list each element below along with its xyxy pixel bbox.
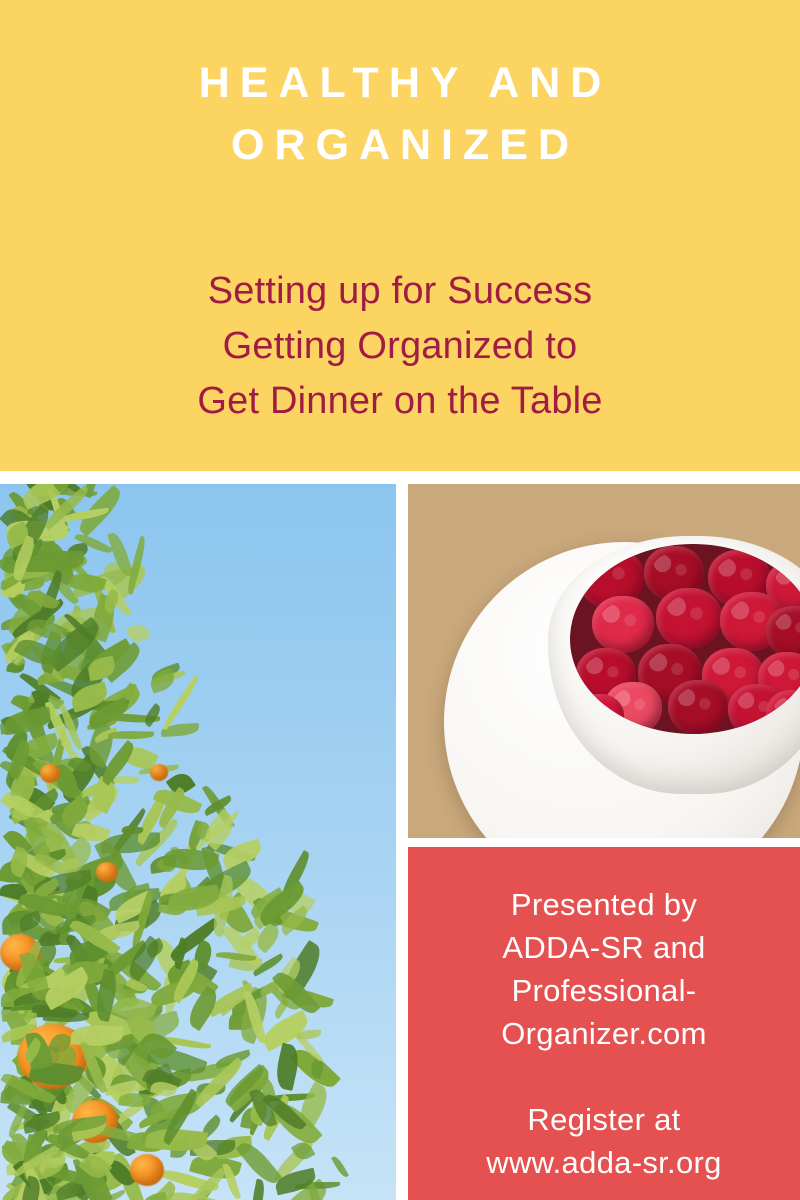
leaf [297, 1030, 322, 1039]
poster-canvas: HEALTHY AND ORGANIZED Setting up for Suc… [0, 0, 800, 1200]
footer-website-url: www.adda-sr.org [408, 1141, 800, 1184]
raspberry [656, 588, 722, 649]
subtitle-line-3: Get Dinner on the Table [0, 374, 800, 429]
header-band: HEALTHY AND ORGANIZED Setting up for Suc… [0, 0, 800, 471]
title-line-1: HEALTHY AND [0, 52, 800, 114]
leaf [126, 622, 151, 645]
leaf [108, 730, 154, 739]
title-line-2: ORGANIZED [0, 114, 800, 176]
raspberry [766, 606, 800, 658]
footer-line-spacer [408, 1055, 800, 1098]
raspberry [574, 694, 624, 734]
footer-line-1: Presented by [408, 883, 800, 926]
raspberries [570, 544, 800, 734]
leaf [112, 775, 138, 786]
subtitle-line-1: Setting up for Success [0, 264, 800, 319]
page-subtitle: Setting up for Success Getting Organized… [0, 264, 800, 429]
leaf [331, 1155, 349, 1179]
bowl [548, 536, 800, 794]
page-title: HEALTHY AND ORGANIZED [0, 52, 800, 176]
footer-line-4: Organizer.com [408, 1012, 800, 1055]
raspberry-bowl-photo [408, 484, 800, 838]
raspberry [668, 680, 728, 734]
subtitle-line-2: Getting Organized to [0, 319, 800, 374]
raspberry [766, 690, 800, 734]
raspberry [592, 596, 654, 653]
tree-foliage [0, 484, 370, 1200]
footer-line-2: ADDA-SR and [408, 926, 800, 969]
leaf [250, 1179, 266, 1200]
orange-fruit [130, 1154, 164, 1186]
footer-line-3: Professional- [408, 969, 800, 1012]
leaf [3, 707, 53, 736]
orange-fruit [150, 764, 168, 781]
orange-fruit [40, 764, 60, 783]
footer-register-label: Register at [408, 1098, 800, 1141]
footer-panel: Presented by ADDA-SR and Professional- O… [408, 847, 800, 1200]
leaf [142, 1191, 169, 1200]
footer-text-block: Presented by ADDA-SR and Professional- O… [408, 883, 800, 1184]
orange-tree-photo [0, 484, 396, 1200]
